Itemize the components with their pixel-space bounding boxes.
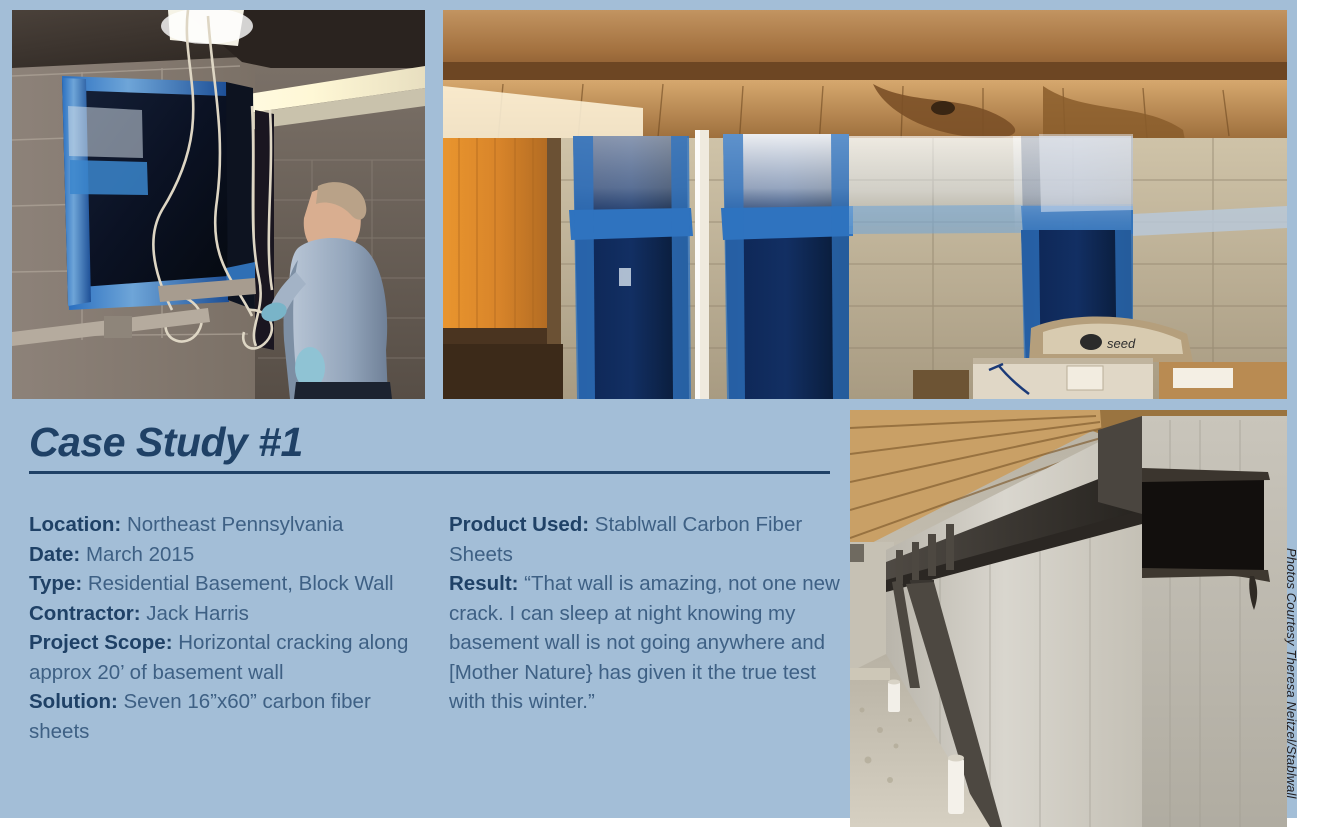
photo-finished-poured-concrete-wall [850,410,1287,827]
detail-solution: Solution: Seven 16”x60” carbon fiber she… [29,687,427,746]
detail-type: Type: Residential Basement, Block Wall [29,569,427,599]
detail-solution-label: Solution: [29,690,118,713]
photo-worker-inspecting-taped-wall [12,10,425,399]
detail-result: Result: “That wall is amazing, not one n… [449,569,841,717]
title-underline-rule [29,471,830,474]
page-title: Case Study #1 [29,422,303,463]
photo-worker-graphic [12,10,425,399]
photo-finished-graphic [850,410,1287,827]
photo-basement-wall-carbon-fiber-strips: seed [443,10,1287,399]
details-column-right: Product Used: Stablwall Carbon Fiber She… [449,510,841,717]
detail-project-scope: Project Scope: Horizontal cracking along… [29,628,427,687]
detail-result-label: Result: [449,572,518,595]
detail-date-label: Date: [29,543,80,566]
detail-product-used-label: Product Used: [449,513,589,536]
detail-contractor-value: Jack Harris [141,602,249,625]
detail-contractor-label: Contractor: [29,602,141,625]
detail-product-used: Product Used: Stablwall Carbon Fiber She… [449,510,841,569]
detail-date-value: March 2015 [80,543,194,566]
case-study-text-block: Case Study #1 Location: Northeast Pennsy… [0,410,850,818]
detail-type-label: Type: [29,572,82,595]
case-study-page: seed [0,0,1324,837]
photo-credit: Photos Courtesy Theresa Neitzel/Stablwal… [1284,548,1299,828]
photo-wall-graphic: seed [443,10,1287,399]
detail-location-value: Northeast Pennsylvania [121,513,343,536]
details-column-left: Location: Northeast Pennsylvania Date: M… [29,510,427,746]
detail-contractor: Contractor: Jack Harris [29,599,427,629]
detail-date: Date: March 2015 [29,540,427,570]
svg-text:seed: seed [1107,336,1136,351]
detail-type-value: Residential Basement, Block Wall [82,572,393,595]
detail-location-label: Location: [29,513,121,536]
detail-location: Location: Northeast Pennsylvania [29,510,427,540]
detail-project-scope-label: Project Scope: [29,631,173,654]
